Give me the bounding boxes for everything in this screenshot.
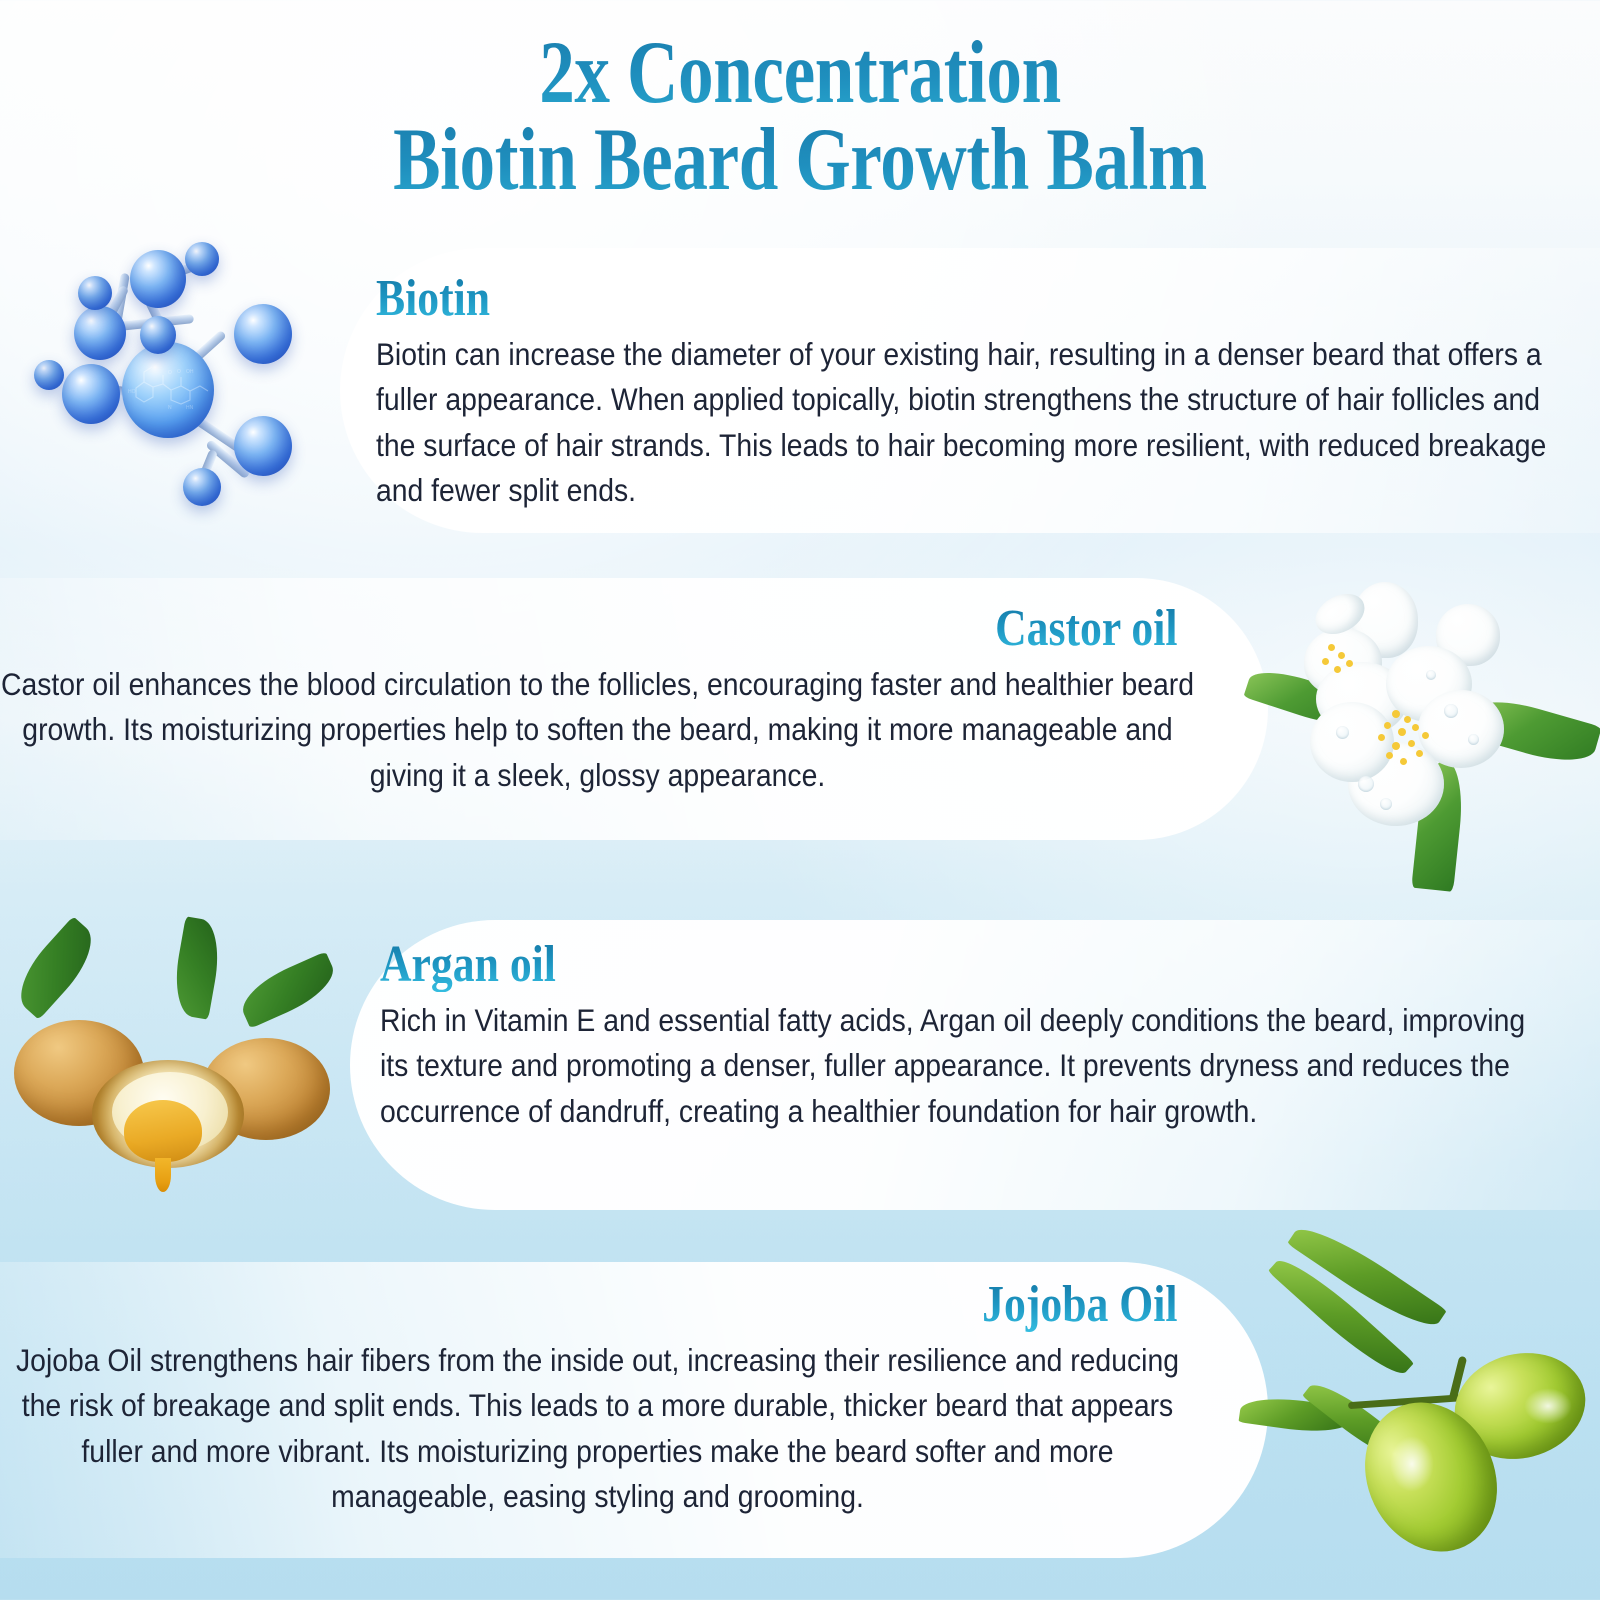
flower-stamen: [1412, 724, 1419, 731]
water-droplet: [1358, 776, 1374, 792]
water-droplet: [1380, 798, 1392, 810]
flower-stamen: [1386, 752, 1393, 759]
section-content-jojoba-oil: Jojoba Oil Jojoba Oil strengthens hair f…: [0, 1278, 1196, 1520]
section-content-argan-oil: Argan oil Rich in Vitamin E and essentia…: [380, 938, 1555, 1134]
argan-leaf: [6, 916, 106, 1020]
section-heading-biotin: Biotin: [376, 272, 1369, 326]
flower-stamen: [1392, 742, 1400, 750]
molecule-atom: [185, 242, 219, 276]
molecule-atom: [62, 364, 120, 424]
svg-text:N: N: [168, 405, 172, 410]
argan-oil-drip: [155, 1158, 171, 1192]
flower-stamen: [1400, 758, 1407, 765]
svg-text:O: O: [168, 370, 172, 376]
molecule-atom: [234, 416, 292, 476]
flower-stamen: [1416, 750, 1423, 757]
flower-stamen: [1322, 658, 1329, 665]
section-heading-jojoba-oil: Jojoba Oil: [191, 1278, 1196, 1332]
svg-text:O: O: [177, 369, 181, 375]
olive-highlight: [1390, 1436, 1434, 1492]
molecule-atom: [140, 316, 176, 354]
flower-stamen: [1404, 716, 1411, 723]
section-body-jojoba-oil: Jojoba Oil strengthens hair fibers from …: [0, 1338, 1194, 1519]
molecule-structure-overlay: HOOO OHNHN: [126, 360, 218, 410]
water-droplet: [1426, 670, 1436, 680]
flower-stamen: [1378, 734, 1385, 741]
water-droplet: [1468, 734, 1479, 745]
flower-stamen: [1392, 710, 1400, 718]
flower-petal: [1310, 702, 1394, 782]
svg-text:HN: HN: [186, 405, 194, 410]
page-title-line-2: Biotin Beard Growth Balm: [160, 115, 1440, 206]
section-heading-argan-oil: Argan oil: [380, 938, 1367, 992]
flower-stamen: [1422, 732, 1429, 739]
argan-leaf: [234, 951, 342, 1028]
argan-oil-pool: [124, 1100, 202, 1162]
flower-stamen: [1334, 666, 1341, 673]
section-content-castor-oil: Castor oil Castor oil enhances the blood…: [0, 602, 1196, 798]
section-heading-castor-oil: Castor oil: [191, 602, 1196, 656]
molecule-atom: [234, 304, 292, 364]
flower-stamen: [1338, 652, 1345, 659]
molecule-illustration: HOOO OHNHN: [18, 238, 318, 528]
molecule-atom: [183, 468, 221, 506]
jasmine-flower-illustration: [1240, 562, 1592, 880]
molecule-atom: [34, 360, 64, 390]
molecule-atom: [130, 250, 186, 308]
page-title-line-1: 2x Concentration: [160, 28, 1440, 119]
svg-text:HO: HO: [128, 389, 136, 395]
section-body-castor-oil: Castor oil enhances the blood circulatio…: [0, 662, 1194, 798]
section-body-argan-oil: Rich in Vitamin E and essential fatty ac…: [380, 998, 1550, 1134]
section-content-biotin: Biotin Biotin can increase the diameter …: [376, 272, 1558, 514]
flower-stamen: [1328, 644, 1335, 651]
flower-stamen: [1408, 740, 1415, 747]
water-droplet: [1444, 704, 1458, 718]
section-body-biotin: Biotin can increase the diameter of your…: [376, 332, 1558, 513]
svg-text:OH: OH: [186, 369, 194, 375]
argan-leaf: [169, 916, 225, 1019]
olives-illustration: [1238, 1240, 1600, 1600]
molecule-atom: [78, 276, 112, 310]
water-droplet: [1336, 726, 1349, 739]
olive-highlight: [1524, 1388, 1572, 1424]
page-title: 2x Concentration Biotin Beard Growth Bal…: [0, 28, 1600, 206]
flower-stamen: [1398, 728, 1406, 736]
molecule-atom: [74, 306, 126, 360]
flower-stamen: [1346, 660, 1353, 667]
argan-nuts-illustration: [0, 912, 340, 1200]
flower-stamen: [1384, 722, 1391, 729]
